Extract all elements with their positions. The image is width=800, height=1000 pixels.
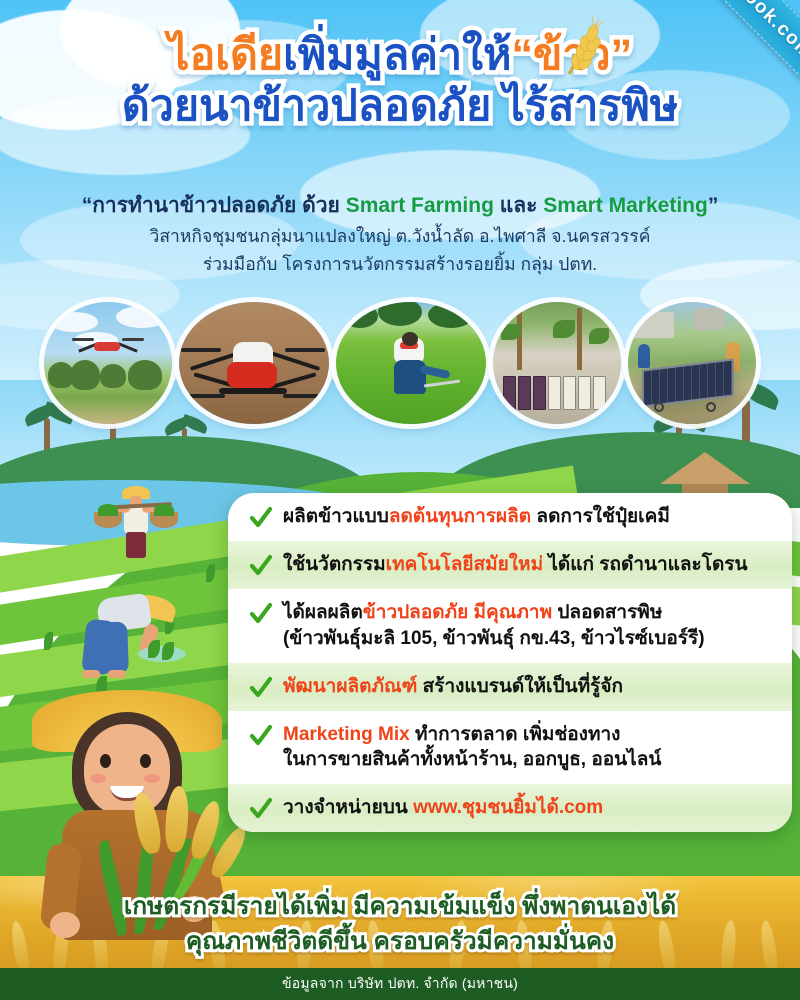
source-text: ข้อมูลจาก บริษัท ปตท. จำกัด (มหาชน) — [282, 973, 518, 995]
hero-face — [84, 724, 170, 816]
text-pre: ได้ผลผลิต — [283, 602, 363, 623]
hero-cheek-right — [144, 774, 160, 783]
list-item-text: ได้ผลผลิตข้าวปลอดภัย มีคุณภาพ ปลอดสารพิษ… — [283, 600, 705, 652]
text-highlight: เทคโนโลยีสมัยใหม่ — [386, 554, 543, 575]
list-item-text: ผลิตข้าวแบบลดต้นทุนการผลิต ลดการใช้ปุ๋ยเ… — [283, 504, 670, 530]
poster-subtitle: “การทำนาข้าวปลอดภัย ด้วย Smart Farming แ… — [0, 190, 800, 278]
text-highlight: ลดต้นทุนการผลิต — [389, 506, 531, 527]
list-item-text: ใช้นวัตกรรมเทคโนโลยีสมัยใหม่ ได้แก่ รถดำ… — [283, 552, 748, 578]
title-part-idea: ไอเดีย — [168, 31, 283, 79]
list-item[interactable]: ผลิตข้าวแบบลดต้นทุนการผลิต ลดการใช้ปุ๋ยเ… — [228, 493, 792, 541]
farmer-pants — [101, 622, 129, 675]
list-item-text: Marketing Mix ทำการตลาด เพิ่มช่องทาง ในก… — [283, 722, 661, 774]
list-item-subline: (ข้าวพันธุ์มะลิ 105, ข้าวพันธุ์ กข.43, ข… — [283, 626, 705, 652]
wheat-stalk-icon — [545, 14, 615, 80]
hero-eye-right — [140, 754, 151, 768]
text-post: สร้างแบรนด์ให้เป็นที่รู้จัก — [417, 676, 623, 697]
text-pre: ใช้นวัตกรรม — [283, 554, 386, 575]
subtitle-smart-farming: Smart Farming — [346, 194, 494, 217]
check-icon — [250, 554, 272, 578]
check-icon — [250, 724, 272, 748]
subtitle-smart-marketing: Smart Marketing — [543, 194, 708, 217]
photo-solar-panel — [628, 302, 756, 424]
photo-drone-flying — [44, 302, 172, 424]
photo-product-display — [493, 302, 621, 424]
title-line-1: ไอเดียเพิ่มมูลค่าให้“ข้าว” — [0, 30, 800, 81]
check-icon — [250, 602, 272, 626]
list-item-subline: ในการขายสินค้าทั้งหน้าร้าน, ออกบูธ, ออนไ… — [283, 747, 661, 773]
list-item-text: วางจำหน่ายบน www.ชุมชนยิ้มได้.com — [283, 795, 603, 821]
text-post: ปลอดสารพิษ — [552, 602, 662, 623]
subtitle-quote-open: “การทำนาข้าวปลอดภัย ด้วย — [82, 194, 346, 217]
text-highlight: Marketing Mix — [283, 724, 410, 745]
poster-title: ไอเดียเพิ่มมูลค่าให้“ข้าว” ด้วยนาข้าวปลอ… — [0, 30, 800, 131]
farmer-foot — [108, 670, 126, 678]
benefits-panel: ผลิตข้าวแบบลดต้นทุนการผลิต ลดการใช้ปุ๋ยเ… — [228, 493, 792, 832]
text-highlight[interactable]: www.ชุมชนยิ้มได้.com — [413, 797, 603, 818]
basket-seedlings — [98, 504, 118, 516]
list-item-text: พัฒนาผลิตภัณฑ์ สร้างแบรนด์ให้เป็นที่รู้จ… — [283, 674, 623, 700]
check-icon — [250, 676, 272, 700]
text-pre: วางจำหน่ายบน — [283, 797, 413, 818]
photo-drone-closeup — [179, 302, 329, 424]
text-highlight: ข้าวปลอดภัย มีคุณภาพ — [363, 602, 552, 623]
hut-roof — [660, 452, 750, 484]
text-post: ทำการตลาด เพิ่มช่องทาง — [410, 724, 621, 745]
list-item[interactable]: พัฒนาผลิตภัณฑ์ สร้างแบรนด์ให้เป็นที่รู้จ… — [228, 663, 792, 711]
source-footer: ข้อมูลจาก บริษัท ปตท. จำกัด (มหาชน) — [0, 968, 800, 1000]
bottom-message-line-2: คุณภาพชีวิตดีขึ้น ครอบครัวมีความมั่นคง — [0, 925, 800, 960]
title-line-2: ด้วยนาข้าวปลอดภัย ไร้สารพิษ — [0, 81, 800, 132]
farmer-foot — [82, 670, 100, 678]
list-item[interactable]: วางจำหน่ายบน www.ชุมชนยิ้มได้.com — [228, 784, 792, 832]
basket-seedlings — [154, 504, 174, 516]
subtitle-quote-close: ” — [708, 194, 719, 217]
subtitle-line-1: “การทำนาข้าวปลอดภัย ด้วย Smart Farming แ… — [0, 190, 800, 222]
farmer-pants — [126, 532, 146, 558]
text-highlight: พัฒนาผลิตภัณฑ์ — [283, 676, 417, 697]
hero-eye-left — [100, 754, 111, 768]
hero-cheek-left — [90, 774, 106, 783]
subtitle-and: และ — [494, 194, 543, 217]
subtitle-line-2: วิสาหกิจชุมชนกลุ่มนาแปลงใหญ่ ต.วังน้ำลัด… — [0, 222, 800, 250]
farmer-carrying-baskets — [96, 486, 176, 566]
benefits-panel-wrapper: ผลิตข้าวแบบลดต้นทุนการผลิต ลดการใช้ปุ๋ยเ… — [228, 493, 792, 832]
bottom-message: เกษตรกรมีรายได้เพิ่ม มีความเข้มแข็ง พึ่ง… — [0, 890, 800, 960]
text-post: ลดการใช้ปุ๋ยเคมี — [531, 506, 670, 527]
list-item[interactable]: Marketing Mix ทำการตลาด เพิ่มช่องทาง ในก… — [228, 711, 792, 785]
subtitle-line-3: ร่วมมือกับ โครงการนวัตกรรมสร้างรอยยิ้ม ก… — [0, 250, 800, 278]
farmer-planting — [76, 580, 186, 680]
check-icon — [250, 506, 272, 530]
check-icon — [250, 797, 272, 821]
photo-strip — [0, 300, 800, 425]
list-item[interactable]: ได้ผลผลิตข้าวปลอดภัย มีคุณภาพ ปลอดสารพิษ… — [228, 589, 792, 663]
title-part-addvalue: เพิ่มมูลค่าให้ — [283, 31, 511, 79]
bottom-message-line-1: เกษตรกรมีรายได้เพิ่ม มีความเข้มแข็ง พึ่ง… — [0, 890, 800, 925]
list-item[interactable]: ใช้นวัตกรรมเทคโนโลยีสมัยใหม่ ได้แก่ รถดำ… — [228, 541, 792, 589]
text-post: ได้แก่ รถดำนาและโดรน — [543, 554, 747, 575]
photo-farmer-spraying — [336, 302, 486, 424]
infographic-poster: www.kapook.com ไอเดียเพิ่มมูลค่าให้“ข้าว… — [0, 0, 800, 1000]
text-pre: ผลิตข้าวแบบ — [283, 506, 389, 527]
